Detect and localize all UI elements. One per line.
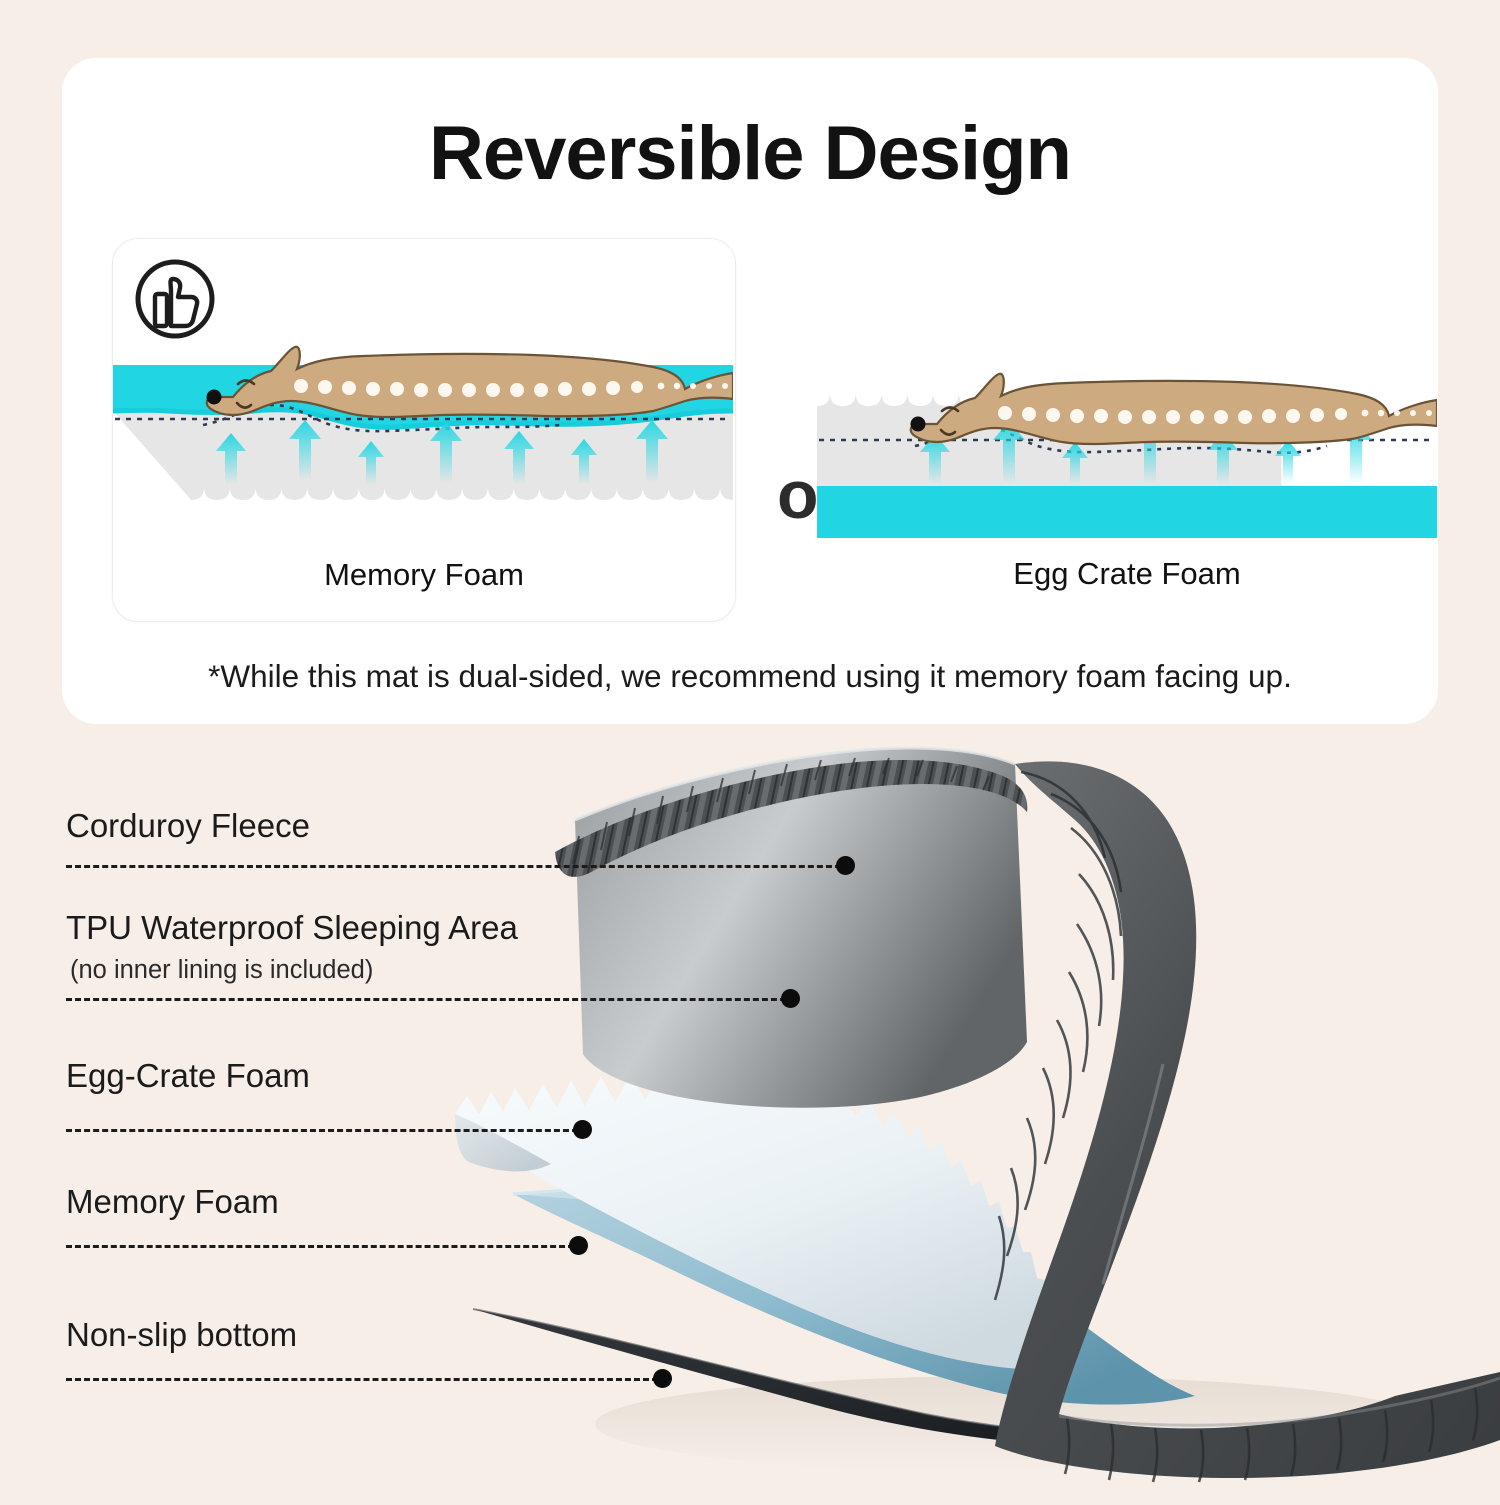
memory-foam-label: Memory Foam (113, 557, 735, 593)
leader-dot-eggcrate (573, 1120, 592, 1139)
page-title: Reversible Design (62, 110, 1438, 197)
egg-crate-foam-label: Egg Crate Foam (817, 556, 1437, 592)
layer-sublabel-tpu-waterproof: (no inner lining is included) (70, 956, 373, 985)
layer-label-corduroy-fleece: Corduroy Fleece (66, 807, 310, 845)
egg-crate-foam-illustration (817, 334, 1437, 544)
memory-foam-illustration (113, 335, 733, 545)
layer-label-non-slip-bottom: Non-slip bottom (66, 1316, 297, 1354)
layer-label-egg-crate-foam: Egg-Crate Foam (66, 1057, 310, 1095)
layer-label-tpu-waterproof: TPU Waterproof Sleeping Area (66, 909, 518, 947)
footnote-text: *While this mat is dual-sided, we recomm… (62, 658, 1438, 695)
thumbs-up-icon (133, 257, 217, 341)
leader-line-eggcrate (66, 1129, 578, 1132)
memory-foam-panel: Memory Foam (112, 238, 736, 622)
layer-breakdown-section: Corduroy Fleece TPU Waterproof Sleeping … (0, 724, 1500, 1500)
leader-line-tpu (66, 998, 786, 1001)
leader-dot-nonslip (653, 1369, 672, 1388)
leader-dot-tpu (781, 989, 800, 1008)
leader-line-memoryfoam (66, 1245, 574, 1248)
infographic-root: Reversible Design (0, 0, 1500, 1500)
reversible-design-card: Reversible Design (62, 58, 1438, 724)
leader-dot-memoryfoam (569, 1236, 588, 1255)
layer-label-memory-foam: Memory Foam (66, 1183, 279, 1221)
product-cutaway-image (455, 724, 1500, 1500)
leader-line-nonslip (66, 1378, 658, 1381)
leader-line-corduroy (66, 865, 841, 868)
leader-dot-corduroy (836, 856, 855, 875)
